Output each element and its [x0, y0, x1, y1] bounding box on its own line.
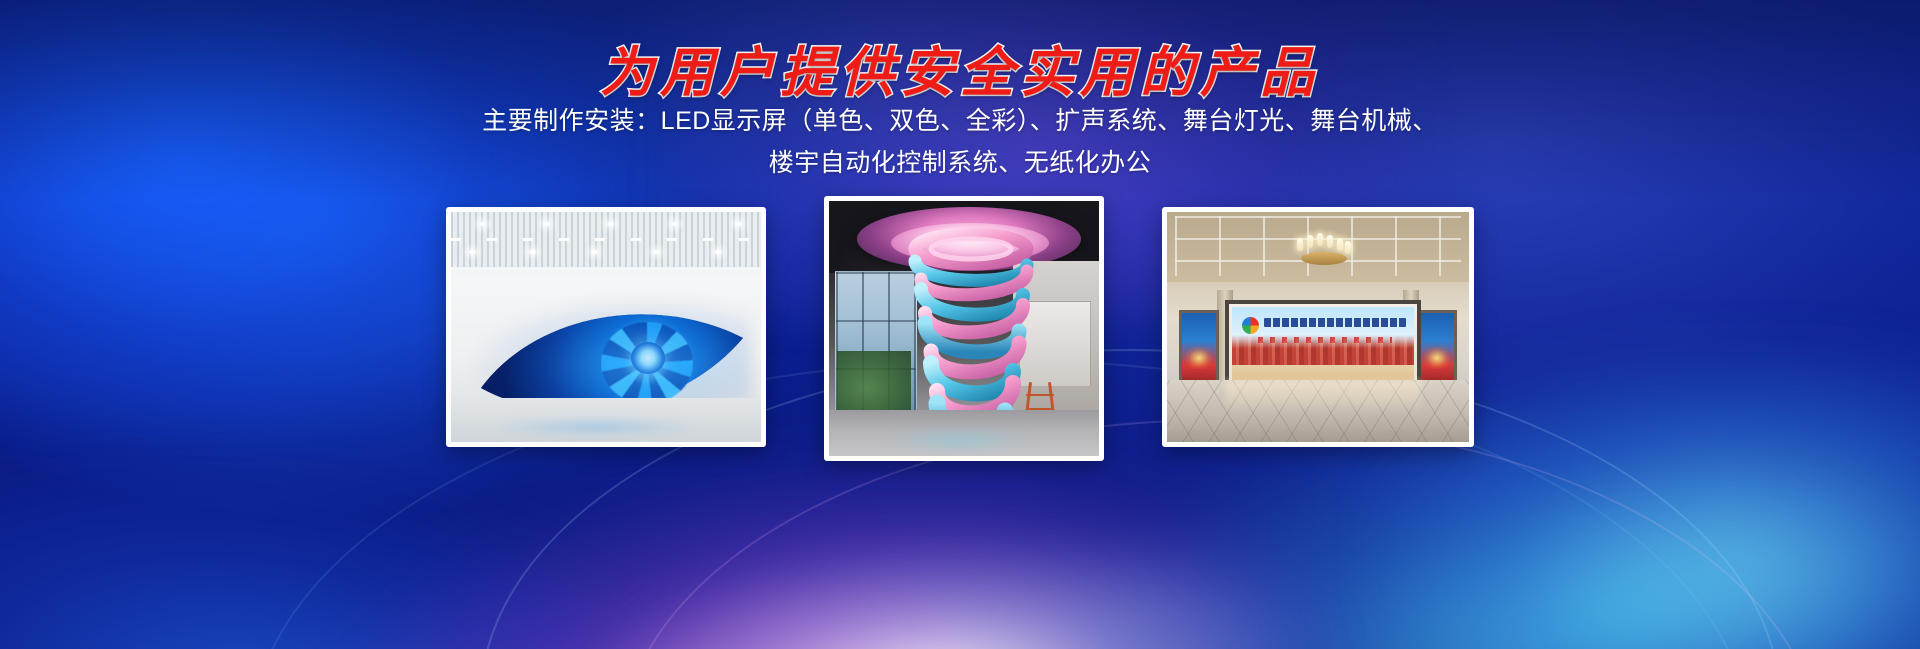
- screen-company-title: [1264, 318, 1406, 327]
- hall-floor: [451, 398, 761, 442]
- banner-headline: 为用户提供安全实用的产品: [0, 28, 1920, 107]
- promo-banner: 为用户提供安全实用的产品 主要制作安装：LED显示屏（单色、双色、全彩）、扩声系…: [0, 0, 1920, 649]
- ceiling-spot-icon: [543, 222, 550, 226]
- ceiling-spot-icon: [735, 222, 742, 226]
- conference-hall-floor: [1167, 380, 1469, 442]
- photo-1-image: [451, 212, 761, 442]
- chandelier-icon: [1295, 238, 1353, 268]
- ceiling-spot-icon: [529, 250, 536, 254]
- subtitle-line-2: 楼宇自动化控制系统、无纸化办公: [0, 142, 1920, 184]
- ceiling-slats: [451, 212, 761, 270]
- company-logo-icon: [1242, 317, 1259, 334]
- subtitle-line-1: 主要制作安装：LED显示屏（单色、双色、全彩）、扩声系统、舞台灯光、舞台机械、: [0, 100, 1920, 142]
- ceiling-spot-icon: [479, 222, 486, 226]
- photo-2-image: [829, 201, 1099, 456]
- main-led-screen-frame: [1225, 300, 1421, 392]
- ceiling-spot-icon: [715, 250, 722, 254]
- product-photo-spiral-led-display[interactable]: [824, 196, 1104, 461]
- main-led-screen-content: [1232, 307, 1414, 385]
- ceiling-spot-icon: [591, 250, 598, 254]
- ceiling-spot-icon: [469, 250, 476, 254]
- ceiling-spot-icon: [671, 222, 678, 226]
- product-photo-eye-shaped-led-display[interactable]: [446, 207, 766, 447]
- product-photo-conference-hall-led-screen[interactable]: [1162, 207, 1474, 447]
- photo-3-image: [1167, 212, 1469, 442]
- side-led-panel-right: [1417, 310, 1457, 390]
- ceiling-spot-icon: [607, 222, 614, 226]
- product-photo-strip: [0, 196, 1920, 476]
- side-led-panel-left: [1179, 310, 1219, 390]
- atrium-floor: [829, 410, 1099, 456]
- ceiling-spot-icon: [653, 250, 660, 254]
- screen-cityscape-graphic: [1232, 335, 1414, 365]
- atrium-plants: [837, 351, 911, 413]
- banner-subtitle: 主要制作安装：LED显示屏（单色、双色、全彩）、扩声系统、舞台灯光、舞台机械、 …: [0, 100, 1920, 184]
